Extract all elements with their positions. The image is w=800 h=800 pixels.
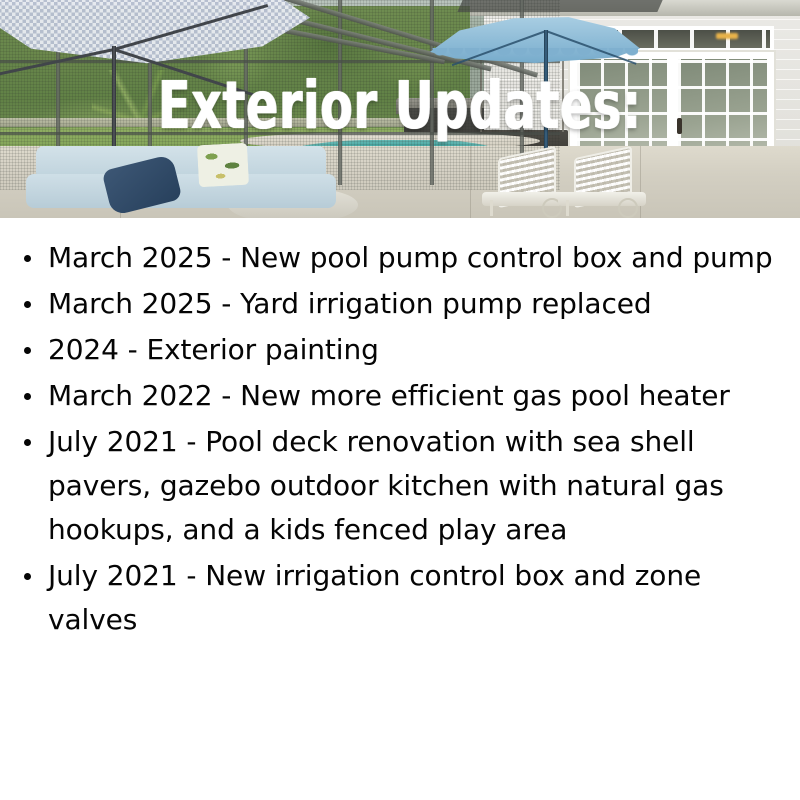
outdoor-sectional-sofa (10, 142, 340, 218)
pool-lanai-photo (0, 0, 800, 218)
swing-rope-right (480, 58, 482, 132)
roof-slope (457, 0, 662, 12)
list-item: July 2021 - Pool deck renovation with se… (14, 420, 786, 552)
list-item: March 2022 - New more efficient gas pool… (14, 374, 786, 418)
sofa-seat-cushions (26, 174, 336, 208)
list-item: July 2021 - New irrigation control box a… (14, 554, 786, 642)
updates-content: March 2025 - New pool pump control box a… (0, 218, 800, 642)
chaise-wheel (618, 198, 638, 218)
chaise-leg (566, 200, 569, 216)
door-handle (677, 118, 682, 134)
hero-photo-banner: Exterior Updates: (0, 0, 800, 218)
list-item: March 2025 - Yard irrigation pump replac… (14, 282, 786, 326)
exterior-updates-list: March 2025 - New pool pump control box a… (14, 236, 786, 642)
botanical-throw-pillow (197, 143, 249, 188)
swing-rope-left (562, 58, 564, 132)
chaise-lounge (556, 152, 652, 216)
list-item: March 2025 - New pool pump control box a… (14, 236, 786, 280)
deck-joint (470, 146, 471, 218)
exterior-light (716, 33, 738, 39)
list-item: 2024 - Exterior painting (14, 328, 786, 372)
yard-fence (0, 118, 430, 127)
chaise-leg (490, 200, 493, 216)
exterior-updates-graphic: Exterior Updates: March 2025 - New pool … (0, 0, 800, 800)
